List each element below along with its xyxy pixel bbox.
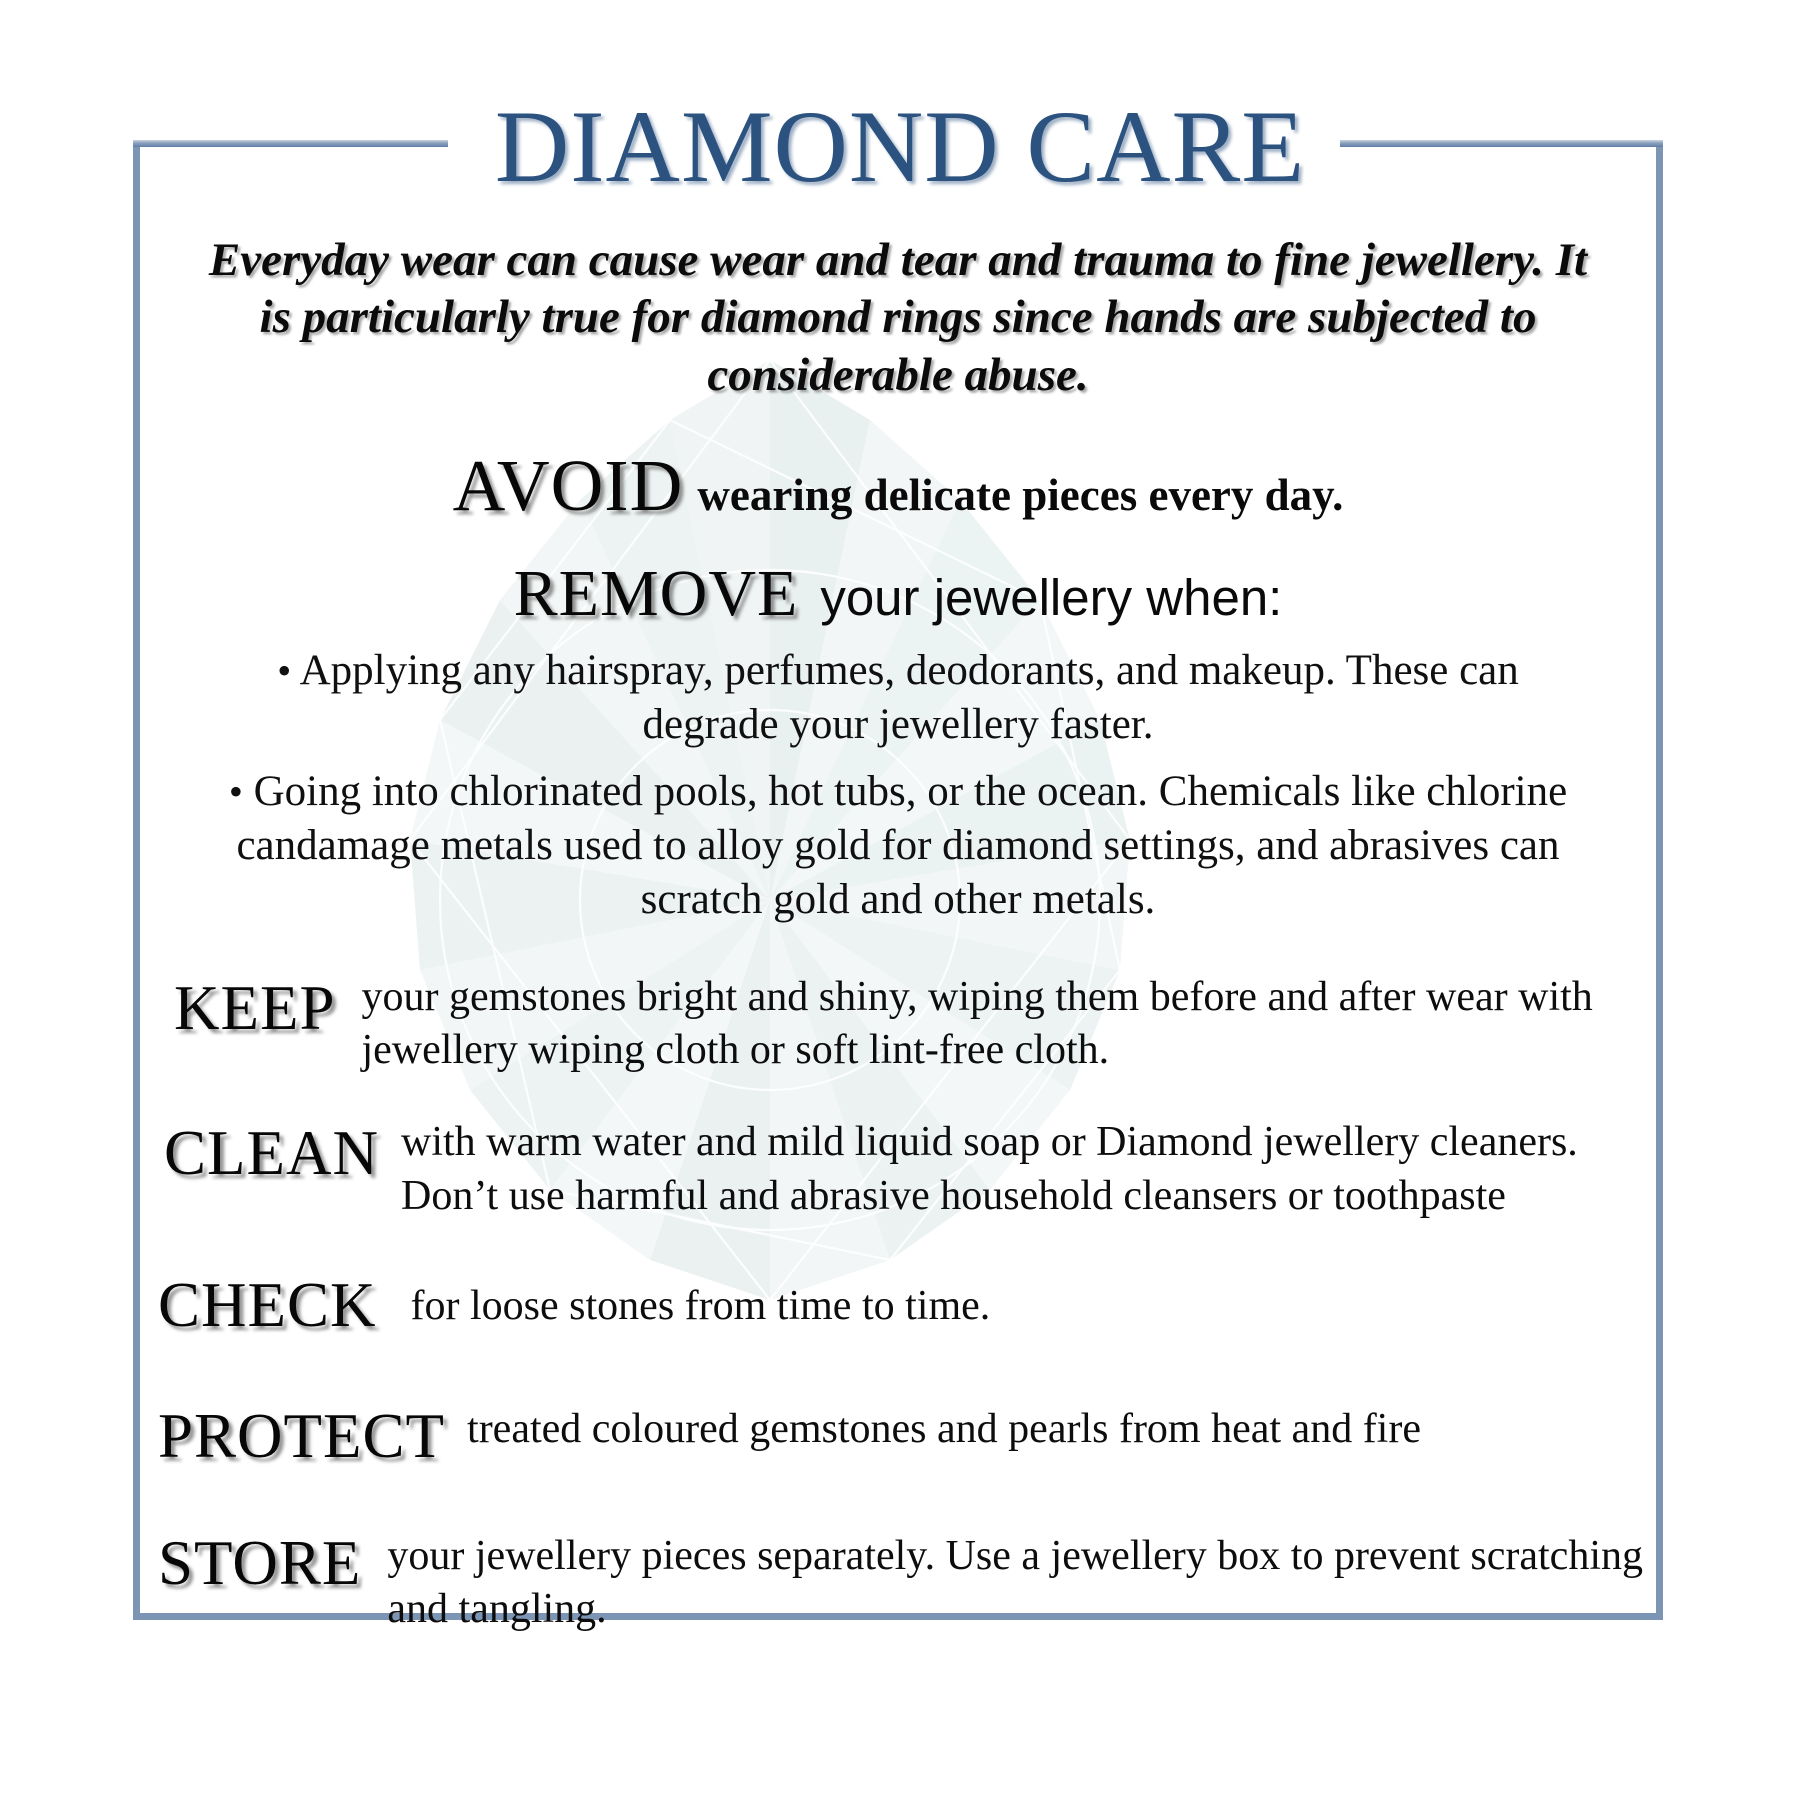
remove-keyword: REMOVE: [514, 557, 799, 630]
tip-keyword: KEEP: [174, 971, 336, 1040]
tip-text: your gemstones bright and shiny, wiping …: [336, 971, 1647, 1079]
poster-content: Everyday wear can cause wear and tear an…: [150, 232, 1646, 1637]
tip-row-clean: CLEAN with warm water and mild liquid so…: [150, 1116, 1646, 1224]
tip-row-keep: KEEP your gemstones bright and shiny, wi…: [150, 971, 1646, 1079]
list-item: • Applying any hairspray, perfumes, deod…: [150, 644, 1646, 752]
list-item-text: Going into chlorinated pools, hot tubs, …: [236, 768, 1567, 923]
list-item-text: Applying any hairspray, perfumes, deodor…: [300, 647, 1519, 748]
tip-text: your jewellery pieces separately. Use a …: [361, 1526, 1646, 1638]
remove-text: your jewellery when:: [798, 569, 1282, 626]
bullet-glyph-icon: •: [277, 648, 291, 693]
page-title: DIAMOND CARE: [481, 96, 1319, 199]
bullet-glyph-icon: •: [229, 769, 243, 814]
tip-text: treated coloured gemstones and pearls fr…: [445, 1399, 1646, 1457]
remove-bullet-list: • Applying any hairspray, perfumes, deod…: [150, 644, 1646, 927]
tip-keyword: PROTECT: [158, 1399, 445, 1468]
tip-keyword: STORE: [158, 1526, 361, 1595]
tip-text: with warm water and mild liquid soap or …: [379, 1116, 1646, 1224]
avoid-text: wearing delicate pieces every day.: [683, 470, 1343, 520]
avoid-section: AVOIDwearing delicate pieces every day.: [150, 444, 1646, 528]
tip-keyword: CHECK: [158, 1268, 377, 1337]
remove-section: REMOVEyour jewellery when:: [150, 556, 1646, 632]
intro-paragraph: Everyday wear can cause wear and tear an…: [196, 232, 1600, 404]
title-container: DIAMOND CARE: [0, 96, 1800, 199]
tip-row-protect: PROTECT treated coloured gemstones and p…: [150, 1399, 1646, 1468]
poster-root: DIAMOND CARE Everyday wear can cause wea…: [0, 0, 1800, 1800]
tip-row-check: CHECK for loose stones from time to time…: [150, 1268, 1646, 1337]
avoid-keyword: AVOID: [453, 445, 684, 526]
list-item: • Going into chlorinated pools, hot tubs…: [150, 765, 1646, 926]
tip-row-store: STORE your jewellery pieces separately. …: [150, 1526, 1646, 1638]
tip-keyword: CLEAN: [164, 1116, 379, 1185]
tip-text: for loose stones from time to time.: [377, 1268, 1646, 1334]
